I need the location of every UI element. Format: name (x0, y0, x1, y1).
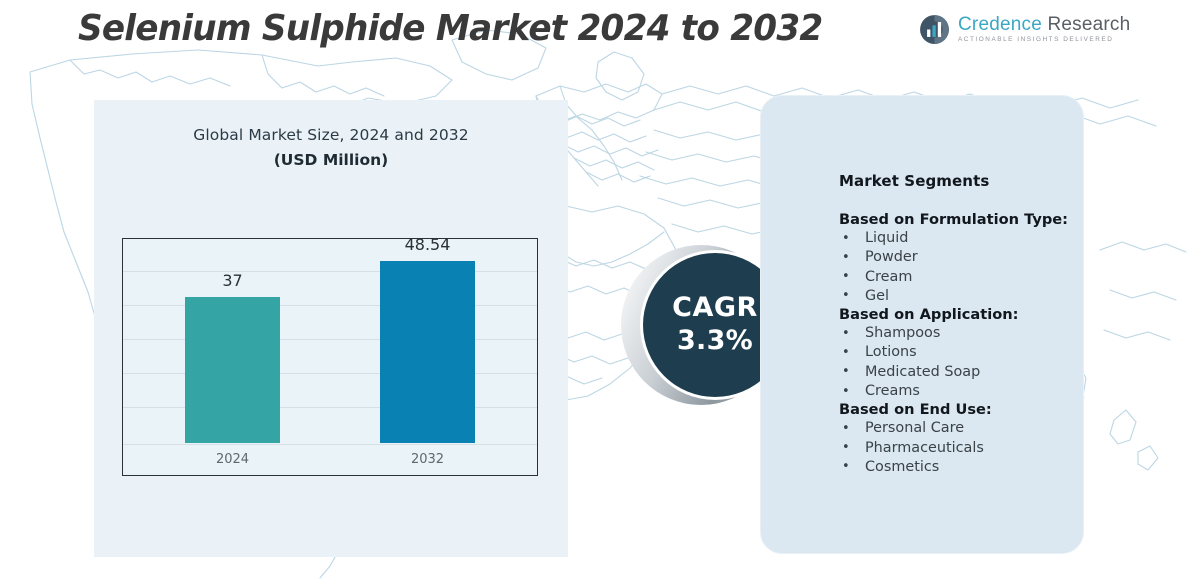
list-item: Cream (839, 268, 1089, 287)
list-item: Powder (839, 248, 1089, 267)
segments-title: Market Segments (839, 172, 1089, 190)
bar-category-2024: 2024 (185, 452, 280, 467)
gridline (123, 444, 537, 445)
list-item: Gel (839, 287, 1089, 306)
segment-group-application: Based on Application: Shampoos Lotions M… (839, 306, 1089, 401)
segment-list: Shampoos Lotions Medicated Soap Creams (839, 324, 1089, 401)
cagr-label: CAGR (672, 294, 758, 322)
list-item: Lotions (839, 343, 1089, 362)
logo-wordmark: Credence Research (958, 15, 1130, 34)
chart-subtitle: (USD Million) (94, 151, 568, 169)
list-item: Cosmetics (839, 458, 1089, 477)
brand-logo[interactable]: Credence Research Actionable Insights De… (918, 13, 1130, 46)
bar-category-2032: 2032 (380, 452, 475, 467)
segment-list: Liquid Powder Cream Gel (839, 229, 1089, 306)
segment-group-title: Based on End Use: (839, 401, 1089, 418)
logo-brand-secondary: Research (1042, 14, 1130, 35)
list-item: Creams (839, 382, 1089, 401)
logo-tagline: Actionable Insights Delivered (958, 37, 1130, 43)
list-item: Liquid (839, 229, 1089, 248)
list-item: Personal Care (839, 419, 1089, 438)
cagr-value: 3.3% (677, 325, 753, 356)
segment-group-end-use: Based on End Use: Personal Care Pharmace… (839, 401, 1089, 477)
market-segments-content: Market Segments Based on Formulation Typ… (839, 172, 1089, 477)
segment-group-title: Based on Formulation Type: (839, 211, 1089, 228)
infographic-page: Selenium Sulphide Market 2024 to 2032 Cr… (0, 0, 1192, 583)
bar-value-2024: 37 (185, 271, 280, 290)
list-item: Medicated Soap (839, 363, 1089, 382)
circle-bar-chart-icon (918, 13, 951, 46)
page-title: Selenium Sulphide Market 2024 to 2032 (78, 8, 822, 49)
logo-brand-primary: Credence (958, 14, 1042, 35)
logo-text-block: Credence Research Actionable Insights De… (958, 15, 1130, 43)
bar-2032[interactable] (380, 261, 475, 443)
segment-group-title: Based on Application: (839, 306, 1089, 323)
list-item: Pharmaceuticals (839, 439, 1089, 458)
bar-chart: 37 48.54 2024 2032 (122, 238, 538, 476)
segment-group-formulation-type: Based on Formulation Type: Liquid Powder… (839, 211, 1089, 306)
bar-2024[interactable] (185, 297, 280, 443)
chart-title: Global Market Size, 2024 and 2032 (94, 126, 568, 144)
list-item: Shampoos (839, 324, 1089, 343)
chart-heading: Global Market Size, 2024 and 2032 (USD M… (94, 126, 568, 169)
bar-value-2032: 48.54 (380, 235, 475, 254)
segment-list: Personal Care Pharmaceuticals Cosmetics (839, 419, 1089, 477)
